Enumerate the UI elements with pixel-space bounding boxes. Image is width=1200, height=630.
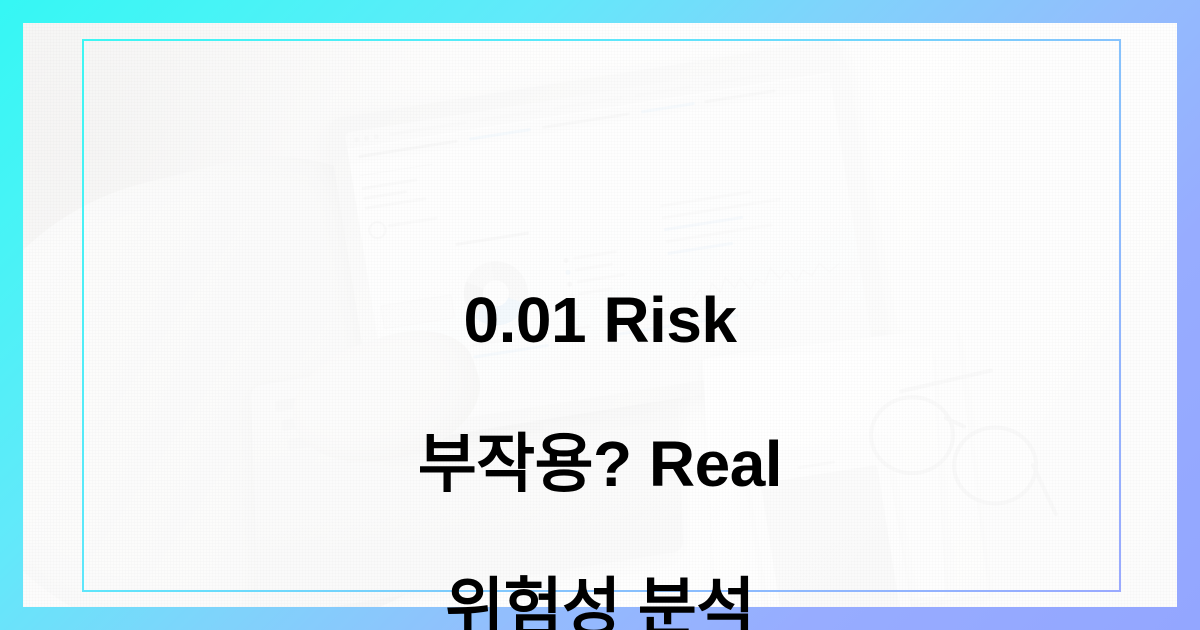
glasses-lens-right	[951, 425, 1038, 506]
dashboard-sparkline	[688, 246, 843, 311]
glasses-temple-left	[899, 368, 993, 393]
glasses-temple-right	[1030, 463, 1058, 517]
dashboard-donut-chart	[459, 257, 532, 330]
phone-speaker	[797, 460, 835, 469]
thumbnail-canvas: 0.01 Risk 부작용? Real 위험성 분석	[0, 0, 1200, 630]
background-photo	[23, 23, 1177, 607]
photo-plate	[23, 23, 1177, 607]
glasses-lens-left	[868, 394, 955, 475]
eyeglasses	[854, 361, 1098, 518]
